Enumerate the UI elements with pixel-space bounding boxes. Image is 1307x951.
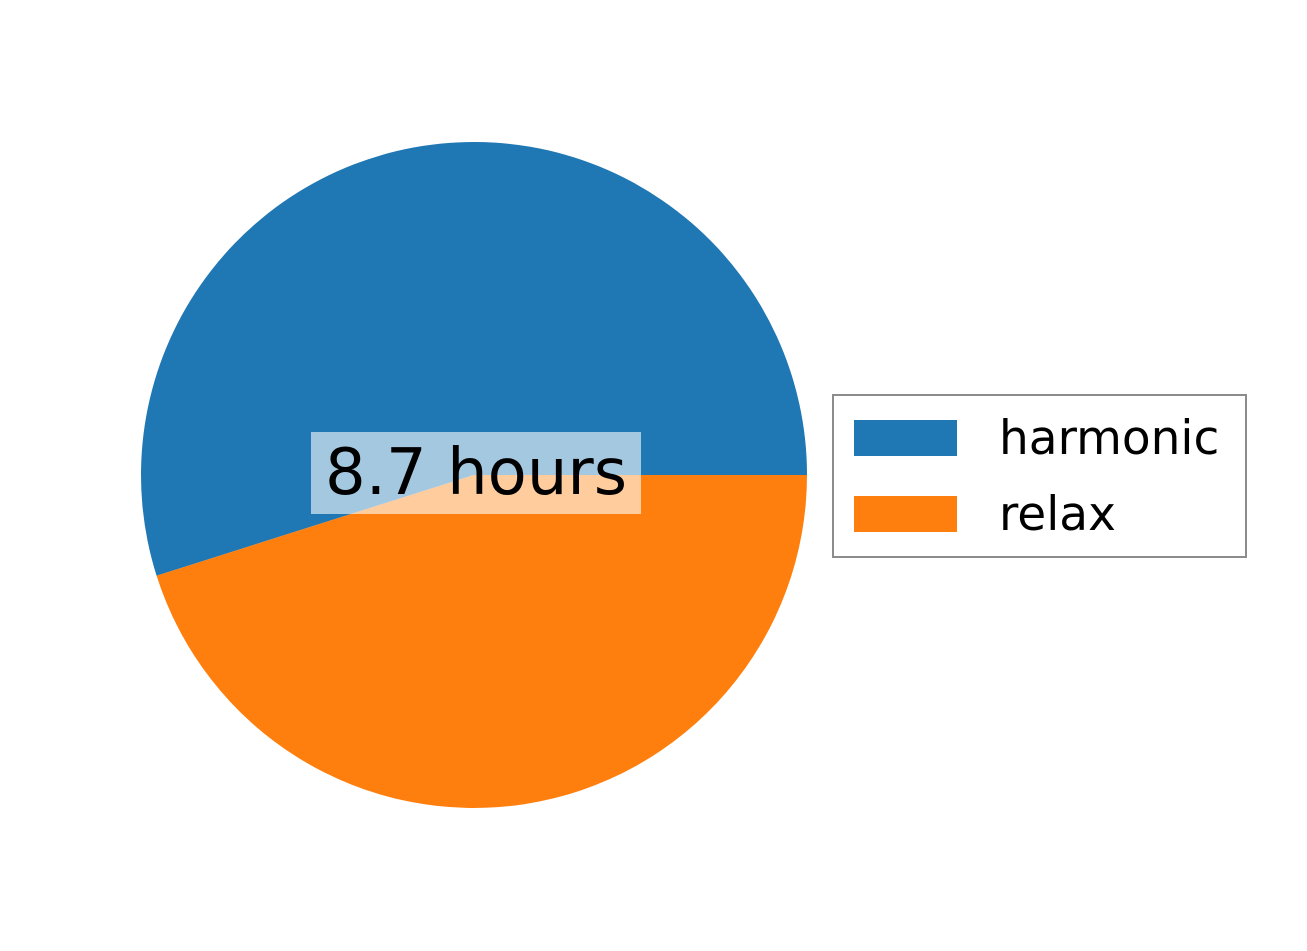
chart-legend: harmonic relax bbox=[832, 394, 1247, 558]
pie-center-value-text: 8.7 hours bbox=[325, 441, 627, 505]
legend-entry-relax[interactable]: relax bbox=[854, 490, 1116, 538]
legend-swatch-harmonic bbox=[854, 420, 957, 456]
figure-canvas: 8.7 hours harmonic relax bbox=[0, 0, 1307, 951]
pie-center-value-label: 8.7 hours bbox=[311, 432, 641, 514]
legend-label-relax: relax bbox=[999, 491, 1116, 538]
legend-swatch-relax bbox=[854, 496, 957, 532]
legend-label-harmonic: harmonic bbox=[999, 415, 1219, 462]
legend-entry-harmonic[interactable]: harmonic bbox=[854, 414, 1219, 462]
